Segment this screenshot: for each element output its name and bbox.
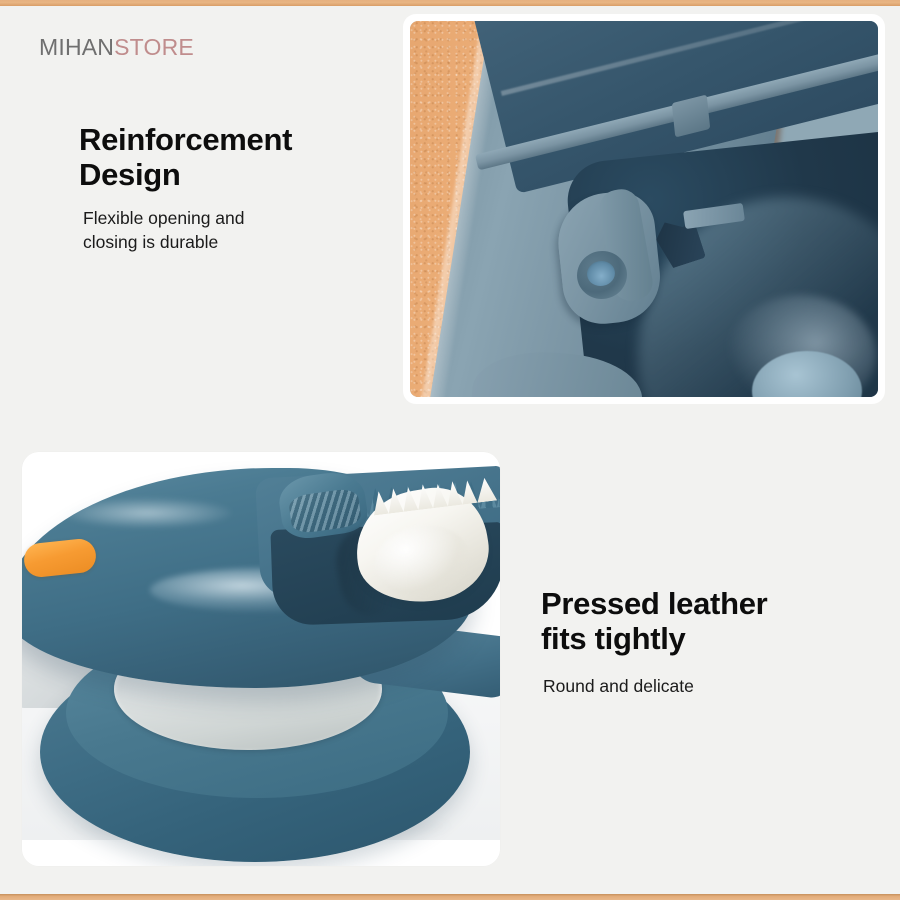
product-photo-press-with-dumpling [22, 452, 500, 866]
press-scene [22, 452, 500, 866]
bottom-accent-band [0, 894, 900, 900]
feature-headline: Reinforcement Design [79, 122, 389, 192]
feature-text-pressed: Pressed leather fits tightly Round and d… [541, 586, 881, 698]
top-accent-band [0, 0, 900, 6]
lid-highlight-secondary [62, 498, 232, 528]
brand-logo-secondary: STORE [114, 34, 194, 60]
photo-frame [22, 452, 500, 866]
feature-subline: Round and delicate [543, 674, 881, 698]
hinge-scene [410, 21, 878, 397]
feature-headline: Pressed leather fits tightly [541, 586, 881, 656]
feature-text-reinforcement: Reinforcement Design Flexible opening an… [79, 122, 389, 254]
photo-frame [410, 21, 878, 397]
product-photo-hinge-closeup [403, 14, 885, 404]
brand-logo-primary: MIHAN [39, 34, 114, 60]
product-feature-page: MIHANSTORE Reinforcement Design Flexible… [0, 0, 900, 900]
brand-logo[interactable]: MIHANSTORE [39, 34, 194, 61]
feature-subline: Flexible opening and closing is durable [83, 206, 389, 254]
